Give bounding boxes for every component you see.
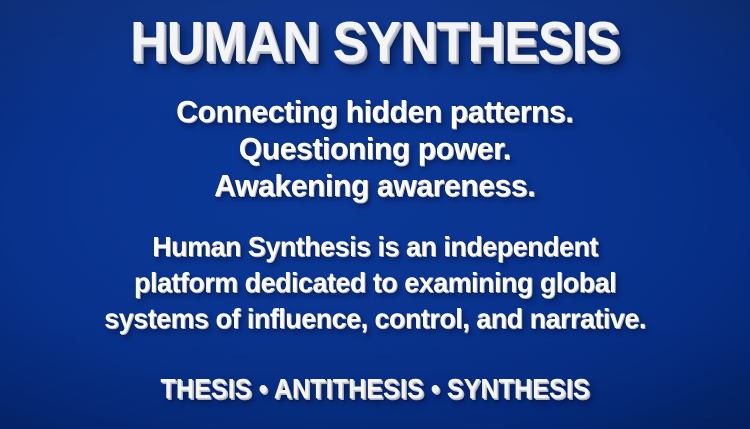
human-synthesis-banner: HUMAN SYNTHESIS Connecting hidden patter… xyxy=(0,0,750,429)
subtitle-line-3: Awakening awareness. xyxy=(176,167,573,204)
subtitle-line-2: Questioning power. xyxy=(176,130,573,167)
tagline-part-thesis: THESIS xyxy=(160,373,251,404)
bullet-separator-icon: • xyxy=(431,373,440,404)
description-line-2: platform dedicated to examining global xyxy=(104,265,646,301)
page-title: HUMAN SYNTHESIS xyxy=(130,14,619,71)
description-line-3: systems of influence, control, and narra… xyxy=(104,301,646,337)
tagline-part-antithesis: ANTITHESIS xyxy=(274,373,424,404)
banner-content: HUMAN SYNTHESIS Connecting hidden patter… xyxy=(0,0,750,429)
tagline-part-synthesis: SYNTHESIS xyxy=(447,373,590,404)
description-line-1: Human Synthesis is an independent xyxy=(104,229,646,265)
subtitle-line-1: Connecting hidden patterns. xyxy=(176,93,573,130)
bullet-separator-icon: • xyxy=(259,373,268,404)
subtitle-block: Connecting hidden patterns. Questioning … xyxy=(170,93,579,204)
footer-tagline: THESIS • ANTITHESIS • SYNTHESIS xyxy=(160,375,589,403)
description-block: Human Synthesis is an independent platfo… xyxy=(93,229,657,337)
